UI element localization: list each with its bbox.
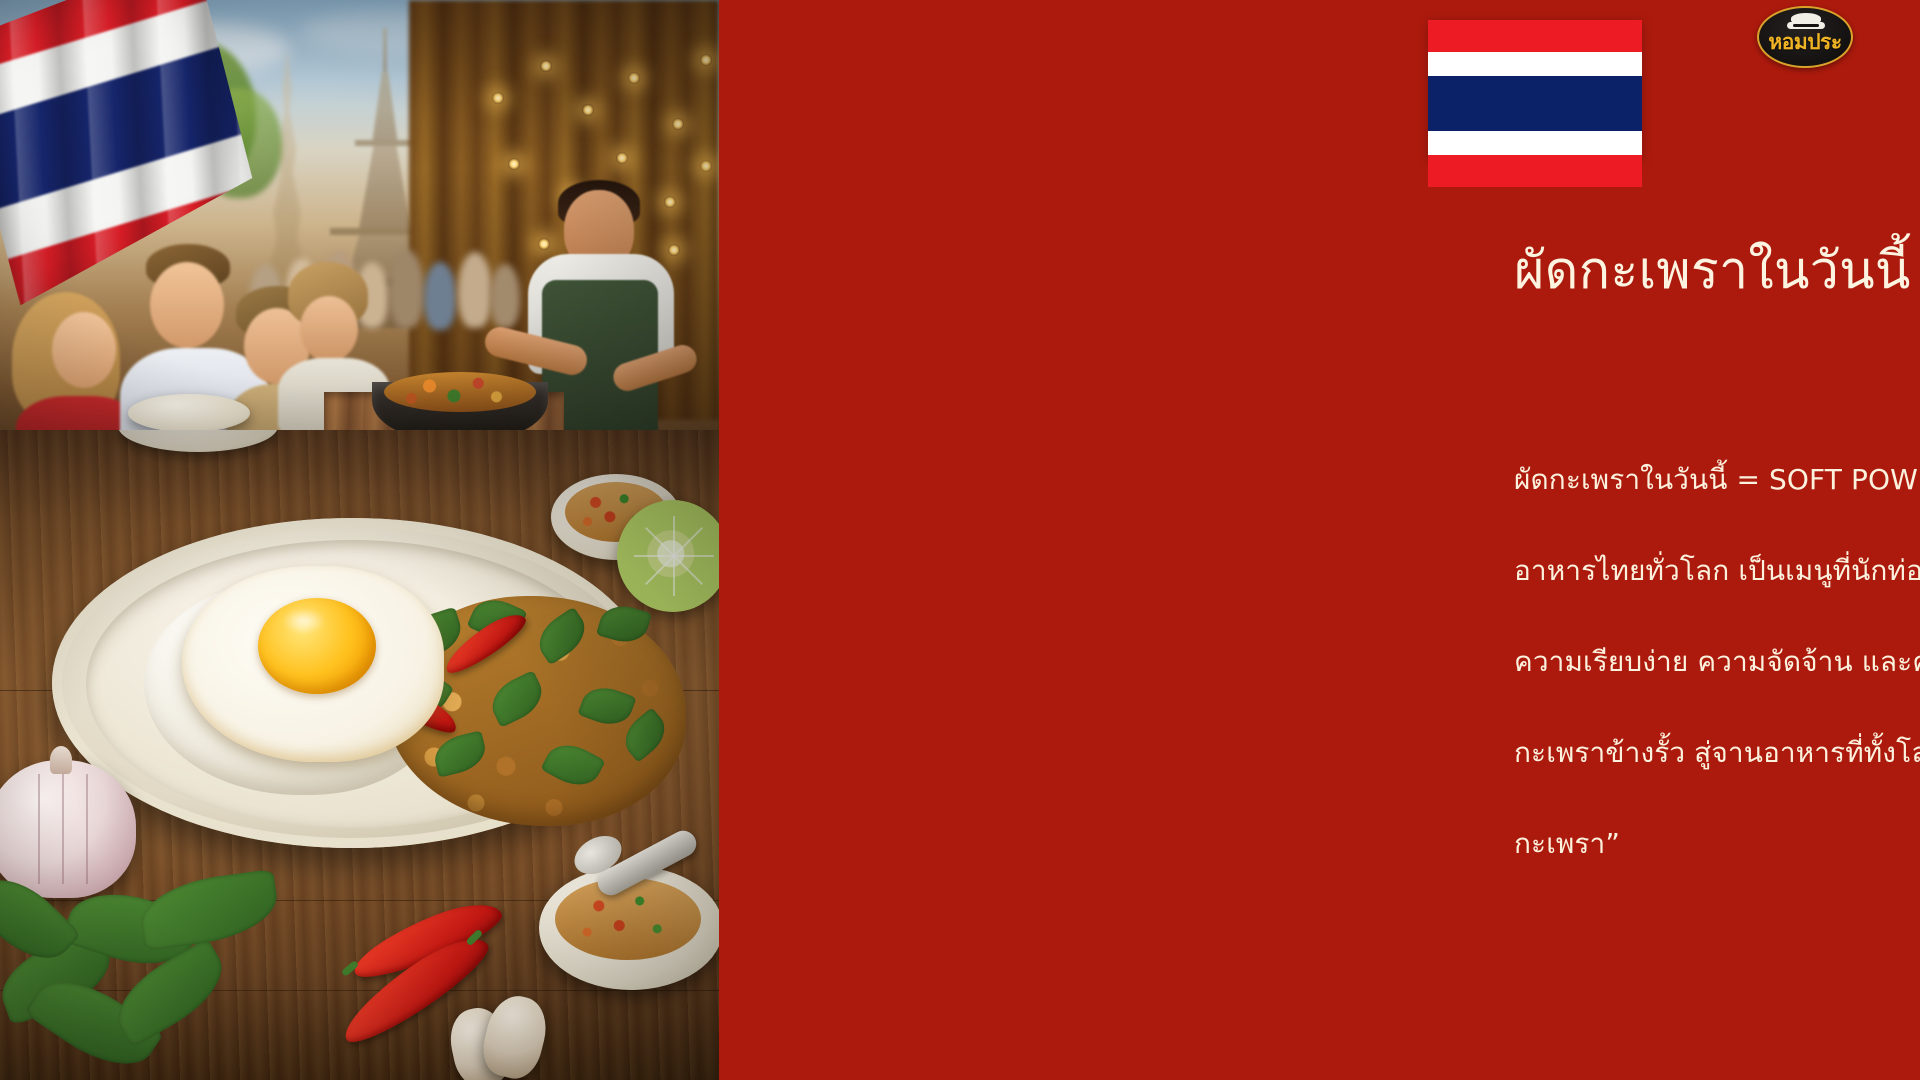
string-light-bulb [582,104,594,116]
body-line: อาหารไทยทั่วโลก เป็นเมนูที่นักท่องเที่ยว… [1514,525,1920,616]
crowd-figure [390,250,424,328]
body-line: ผัดกะเพราในวันนี้ = SOFT POWER ไทย วันนี… [1514,434,1920,525]
basil-leaf [530,607,593,666]
crowd-figure [424,262,456,330]
lime-half [617,500,719,612]
dipping-sauce [555,878,701,960]
flag-band-white-bot [1428,131,1642,154]
basil-leaf [430,730,489,778]
page-title: ผัดกะเพราในวันนี้ = SOFT POWER THAI [1514,244,1920,299]
flag-band-red-bot [1428,155,1642,187]
body-line: กะเพราข้างรั้ว สู่จานอาหารที่ทั้งโลกรู้จ… [1514,707,1920,798]
logo-wordmark: หอมประ [1757,26,1853,59]
string-light-bulb [700,54,712,66]
crowd-figure [458,252,492,328]
wok-food [384,372,536,412]
basil-leaf [577,681,636,732]
basil-leaf [136,869,282,952]
brand-logo[interactable]: หอมประ [1757,6,1853,68]
body-line: กะเพรา” [1514,798,1920,889]
string-light-bulb [616,152,628,164]
thai-basil-bunch [0,860,300,1070]
egg-yolk-highlight [282,608,326,634]
photo-column [0,0,719,1080]
content-panel: หอมประ ผัดกะเพราในวันนี้ = SOFT POWER TH… [719,0,1920,1080]
garlic-tip [50,746,72,774]
flag-band-blue [1428,76,1642,132]
plate-rim [86,540,618,828]
string-light-bulb [628,72,640,84]
slide-root: หอมประ ผัดกะเพราในวันนี้ = SOFT POWER TH… [0,0,1920,1080]
thailand-flag [1428,20,1642,159]
body-paragraph: ผัดกะเพราในวันนี้ = SOFT POWER ไทย วันนี… [1514,434,1920,889]
body-line: ความเรียบง่าย ความจัดจ้าน และความเป็นไทย… [1514,616,1920,707]
headline-thai-part: ผัดกะเพราในวันนี้ = [1514,241,1920,301]
string-light-bulb [540,60,552,72]
main-oval-plate [52,518,652,848]
flag-band-red-top [1428,20,1642,52]
pad-kra-pao-dish-scene [0,430,719,1080]
string-light-bulb [672,118,684,130]
string-light-bulb [492,92,504,104]
basil-leaf [540,736,606,795]
flag-band-white-top [1428,52,1642,75]
basil-leaf [484,670,549,728]
table-plate [128,394,250,432]
